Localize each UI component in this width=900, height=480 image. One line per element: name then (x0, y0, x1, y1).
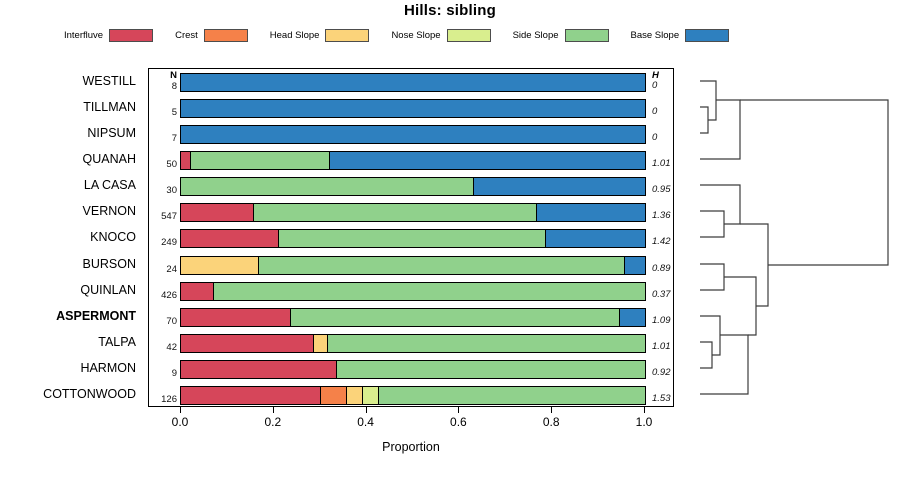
stacked-bar[interactable] (180, 151, 646, 170)
chart-row: 1261.53 (149, 382, 673, 408)
row-n-value: 8 (149, 81, 177, 92)
stacked-bar[interactable] (180, 334, 646, 353)
bar-segment-base-slope[interactable] (545, 230, 645, 247)
row-n-value: 70 (149, 316, 177, 327)
bar-segment-interfluve[interactable] (181, 361, 336, 378)
x-axis-tick (458, 407, 459, 413)
row-n-value: 249 (149, 237, 177, 248)
x-axis-tick (644, 407, 645, 413)
bar-segment-base-slope[interactable] (624, 257, 645, 274)
x-axis-tick (180, 407, 181, 413)
x-axis-tick-label: 0.8 (526, 415, 576, 429)
category-label-quinlan: QUINLAN (0, 277, 136, 303)
legend-swatch (685, 29, 729, 42)
category-label-la-casa: LA CASA (0, 172, 136, 198)
legend-item-base-slope: Base Slope (631, 29, 730, 42)
category-axis-labels: WESTILLTILLMANNIPSUMQUANAHLA CASAVERNONK… (0, 68, 144, 407)
chart-row: 50 (149, 95, 673, 121)
chart-plot-panel: 805070501.01300.955471.362491.42240.8942… (148, 68, 674, 407)
dendrogram (676, 60, 900, 416)
category-label-knoco: KNOCO (0, 224, 136, 250)
legend-label: Base Slope (631, 30, 680, 41)
chart-row: 70 (149, 121, 673, 147)
x-axis-tick-label: 0.6 (433, 415, 483, 429)
stacked-bar[interactable] (180, 203, 646, 222)
stacked-bar[interactable] (180, 386, 646, 405)
bar-segment-head-slope[interactable] (313, 335, 327, 352)
legend-item-nose-slope: Nose Slope (391, 29, 490, 42)
x-axis-title: Proportion (148, 440, 674, 454)
x-axis-tick-label: 1.0 (619, 415, 669, 429)
bar-segment-base-slope[interactable] (329, 152, 645, 169)
bar-segment-base-slope[interactable] (619, 309, 645, 326)
bar-segment-interfluve[interactable] (181, 309, 290, 326)
bar-segment-side-slope[interactable] (253, 204, 536, 221)
row-n-value: 5 (149, 107, 177, 118)
bar-segment-side-slope[interactable] (181, 178, 473, 195)
bar-segment-side-slope[interactable] (336, 361, 645, 378)
bar-segment-interfluve[interactable] (181, 152, 190, 169)
category-label-talpa: TALPA (0, 329, 136, 355)
bar-segment-interfluve[interactable] (181, 387, 320, 404)
row-n-value: 50 (149, 159, 177, 170)
chart-row: 701.09 (149, 304, 673, 330)
bar-segment-head-slope[interactable] (346, 387, 362, 404)
bar-segment-base-slope[interactable] (181, 126, 645, 143)
category-label-cottonwood: COTTONWOOD (0, 381, 136, 407)
bar-segment-head-slope[interactable] (181, 257, 258, 274)
stacked-bar[interactable] (180, 282, 646, 301)
legend-label: Interfluve (64, 30, 103, 41)
bar-segment-side-slope[interactable] (258, 257, 625, 274)
x-axis-tick-label: 0.4 (341, 415, 391, 429)
bar-segment-nose-slope[interactable] (362, 387, 378, 404)
legend-label: Nose Slope (391, 30, 440, 41)
legend-label: Side Slope (513, 30, 559, 41)
category-label-burson: BURSON (0, 251, 136, 277)
legend-swatch (447, 29, 491, 42)
stacked-bar[interactable] (180, 125, 646, 144)
legend-swatch (325, 29, 369, 42)
legend-item-crest: Crest (175, 29, 248, 42)
bar-segment-side-slope[interactable] (290, 309, 619, 326)
bar-segment-base-slope[interactable] (181, 100, 645, 117)
bar-segment-crest[interactable] (320, 387, 346, 404)
category-label-nipsum: NIPSUM (0, 120, 136, 146)
bar-segment-side-slope[interactable] (378, 387, 645, 404)
legend-swatch (109, 29, 153, 42)
bar-segment-base-slope[interactable] (536, 204, 645, 221)
category-label-vernon: VERNON (0, 198, 136, 224)
bar-segment-base-slope[interactable] (181, 74, 645, 91)
bar-segment-side-slope[interactable] (327, 335, 645, 352)
legend-item-head-slope: Head Slope (270, 29, 370, 42)
legend-swatch (204, 29, 248, 42)
x-axis-tick (273, 407, 274, 413)
category-label-westill: WESTILL (0, 68, 136, 94)
dendrogram-svg (676, 60, 900, 416)
chart-row: 80 (149, 69, 673, 95)
legend-label: Crest (175, 30, 198, 41)
bar-segment-side-slope[interactable] (213, 283, 645, 300)
chart-row: 5471.36 (149, 199, 673, 225)
stacked-bar[interactable] (180, 99, 646, 118)
row-n-value: 9 (149, 368, 177, 379)
chart-row: 421.01 (149, 330, 673, 356)
chart-row: 501.01 (149, 147, 673, 173)
row-n-value: 426 (149, 290, 177, 301)
page-title: Hills: sibling (0, 2, 900, 19)
bar-segment-side-slope[interactable] (190, 152, 329, 169)
chart-row: 240.89 (149, 252, 673, 278)
legend-item-interfluve: Interfluve (64, 29, 153, 42)
bar-segment-interfluve[interactable] (181, 283, 213, 300)
stacked-bar[interactable] (180, 177, 646, 196)
x-axis-tick (366, 407, 367, 413)
bar-segment-interfluve[interactable] (181, 204, 253, 221)
x-axis-tick (551, 407, 552, 413)
row-n-value: 547 (149, 211, 177, 222)
chart-row: 2491.42 (149, 225, 673, 251)
legend-swatch (565, 29, 609, 42)
stacked-bar[interactable] (180, 73, 646, 92)
row-n-value: 7 (149, 133, 177, 144)
row-n-value: 30 (149, 185, 177, 196)
row-n-value: 126 (149, 394, 177, 405)
x-axis-tick-label: 0.0 (155, 415, 205, 429)
bar-segment-base-slope[interactable] (473, 178, 645, 195)
chart-legend: InterfluveCrestHead SlopeNose SlopeSide … (64, 26, 780, 44)
x-axis-tick-label: 0.2 (248, 415, 298, 429)
row-n-value: 24 (149, 264, 177, 275)
stacked-bar[interactable] (180, 256, 646, 275)
chart-row: 300.95 (149, 173, 673, 199)
legend-item-side-slope: Side Slope (513, 29, 609, 42)
n-column-header: N (149, 70, 177, 81)
category-label-aspermont: ASPERMONT (0, 303, 136, 329)
category-label-tillman: TILLMAN (0, 94, 136, 120)
category-label-harmon: HARMON (0, 355, 136, 381)
chart-row: 4260.37 (149, 278, 673, 304)
bar-segment-side-slope[interactable] (278, 230, 545, 247)
stacked-bar[interactable] (180, 229, 646, 248)
legend-label: Head Slope (270, 30, 320, 41)
bar-segment-interfluve[interactable] (181, 230, 278, 247)
bar-segment-interfluve[interactable] (181, 335, 313, 352)
chart-row: 90.92 (149, 356, 673, 382)
stacked-bar[interactable] (180, 308, 646, 327)
row-n-value: 42 (149, 342, 177, 353)
category-label-quanah: QUANAH (0, 146, 136, 172)
stacked-bar[interactable] (180, 360, 646, 379)
